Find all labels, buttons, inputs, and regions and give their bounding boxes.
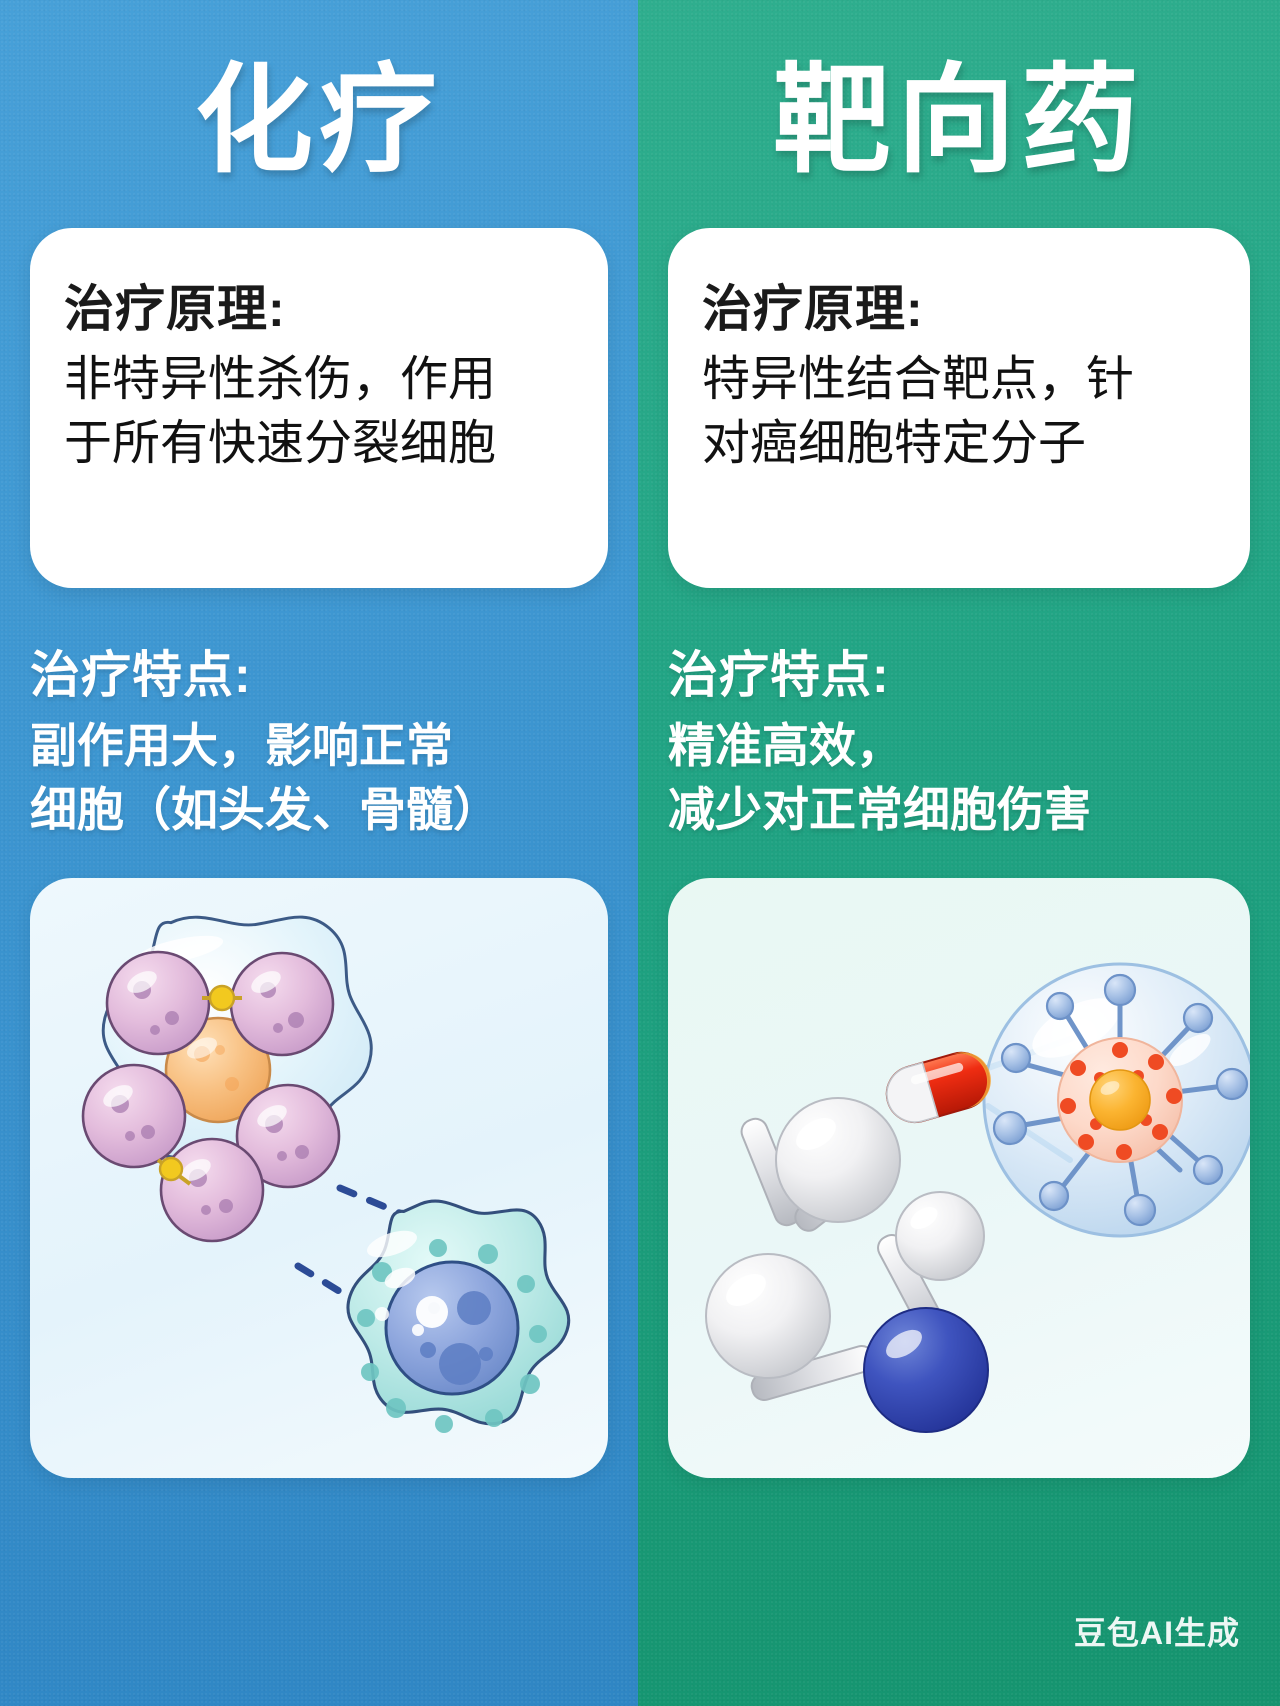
targeted-drug-principle-line2: 对癌细胞特定分子 (702, 412, 1216, 476)
targeted-drug-feature-heading: 治疗特点: (668, 646, 1250, 704)
drug-capsule-icon (880, 1045, 997, 1128)
molecule-model (706, 1045, 998, 1431)
chemotherapy-principle-line1: 非特异性杀伤，作用 (64, 348, 574, 412)
chemotherapy-feature-heading: 治疗特点: (30, 646, 608, 704)
cancer-cell-cluster (83, 917, 371, 1241)
targeted-drug-principle-heading: 治疗原理: (702, 280, 1216, 338)
chemotherapy-principle-card: 治疗原理: 非特异性杀伤，作用 于所有快速分裂细胞 (30, 228, 608, 588)
targeted-drug-feature-line1: 精准高效， (668, 714, 1250, 778)
magnified-target-bubble (984, 964, 1250, 1236)
targeted-molecule-illustration (668, 878, 1250, 1478)
chemotherapy-principle-heading: 治疗原理: (64, 280, 574, 338)
chemotherapy-principle-line2: 于所有快速分裂细胞 (64, 412, 574, 476)
targeted-drug-principle-card: 治疗原理: 特异性结合靶点，针 对癌细胞特定分子 (668, 228, 1250, 588)
watermark: 豆包AI生成 (1074, 1608, 1240, 1654)
chemotherapy-feature-line1: 副作用大，影响正常 (30, 714, 608, 778)
targeted-drug-column: 靶向药 治疗原理: 特异性结合靶点，针 对癌细胞特定分子 治疗特点: 精准高效，… (638, 0, 1280, 1706)
normal-cell (348, 1201, 569, 1433)
chemotherapy-column: 化疗 治疗原理: 非特异性杀伤，作用 于所有快速分裂细胞 治疗特点: 副作用大，… (0, 0, 638, 1706)
comparison-poster: 化疗 治疗原理: 非特异性杀伤，作用 于所有快速分裂细胞 治疗特点: 副作用大，… (0, 0, 1280, 1706)
chemotherapy-feature-line2: 细胞（如头发、骨髓） (30, 778, 608, 842)
targeted-drug-feature-block: 治疗特点: 精准高效， 减少对正常细胞伤害 (668, 588, 1250, 842)
targeted-drug-title: 靶向药 (638, 0, 1280, 180)
chemo-cell-illustration (30, 878, 608, 1478)
targeted-molecule-illustration-svg (668, 878, 1250, 1478)
targeted-drug-feature-line2: 减少对正常细胞伤害 (668, 778, 1250, 842)
targeted-drug-principle-line1: 特异性结合靶点，针 (702, 348, 1216, 412)
chemo-cell-illustration-svg (30, 878, 608, 1478)
chemotherapy-feature-block: 治疗特点: 副作用大，影响正常 细胞（如头发、骨髓） (30, 588, 608, 842)
chemotherapy-title: 化疗 (0, 0, 638, 180)
